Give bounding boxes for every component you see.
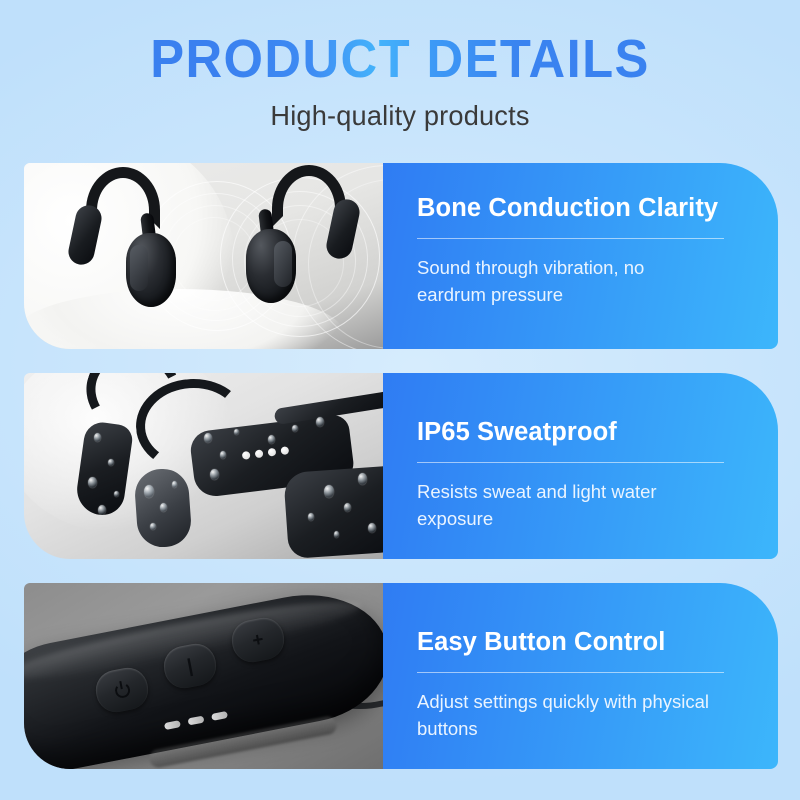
divider	[417, 672, 724, 673]
volume-up-label: +	[251, 630, 266, 651]
water-droplet	[210, 469, 219, 480]
feature-description: Resists sweat and light water exposure	[417, 479, 717, 533]
feature-heading: IP65 Sweatproof	[417, 417, 744, 448]
water-droplet	[344, 503, 351, 512]
feature-card: Bone Conduction Clarity Sound through vi…	[24, 163, 778, 349]
water-droplet	[114, 491, 119, 497]
water-droplet	[334, 531, 339, 538]
earhook-speaker-pod	[126, 233, 176, 307]
water-droplet	[234, 429, 239, 435]
water-droplet	[324, 485, 334, 498]
water-droplet	[94, 433, 101, 442]
product-image-bone-conduction	[24, 163, 383, 349]
water-droplet	[150, 523, 156, 530]
water-droplet	[220, 451, 226, 459]
water-droplet	[204, 433, 212, 443]
water-droplet	[368, 523, 376, 533]
water-droplet	[144, 485, 154, 498]
divider	[417, 238, 724, 239]
feature-description: Adjust settings quickly with physical bu…	[417, 689, 717, 743]
water-droplet	[88, 477, 97, 488]
product-image-button-control: | +	[24, 583, 383, 769]
water-droplet	[172, 481, 177, 488]
page-title: PRODUCT DETAILS	[24, 32, 776, 86]
led-dot	[242, 451, 251, 460]
feature-text-panel: Bone Conduction Clarity Sound through vi…	[383, 163, 778, 349]
pod-face	[130, 245, 148, 291]
led-dot	[255, 449, 264, 458]
product-image-sweatproof	[24, 373, 383, 559]
water-droplet	[160, 503, 167, 512]
feature-card: IP65 Sweatproof Resists sweat and light …	[24, 373, 778, 559]
led-dot	[267, 448, 276, 457]
water-droplet	[308, 513, 314, 521]
pod-face	[274, 241, 292, 287]
feature-description: Sound through vibration, no eardrum pres…	[417, 255, 717, 309]
earhook-speaker-pod	[246, 229, 296, 303]
water-droplet	[268, 435, 275, 444]
water-droplet	[108, 459, 114, 466]
water-droplet	[316, 417, 324, 427]
feature-card-list: Bone Conduction Clarity Sound through vi…	[24, 163, 778, 793]
page-subtitle: High-quality products	[12, 100, 788, 132]
page-header: PRODUCT DETAILS High-quality products	[0, 0, 800, 132]
product-details-page: PRODUCT DETAILS High-quality products	[0, 0, 800, 800]
headphone-band	[283, 465, 383, 559]
feature-heading: Bone Conduction Clarity	[417, 193, 744, 224]
volume-down-label: |	[186, 656, 195, 676]
divider	[417, 462, 724, 463]
feature-text-panel: IP65 Sweatproof Resists sweat and light …	[383, 373, 778, 559]
water-droplet	[292, 425, 298, 432]
power-icon	[113, 681, 131, 699]
water-droplet	[98, 505, 106, 515]
led-dot	[280, 446, 289, 455]
feature-text-panel: Easy Button Control Adjust settings quic…	[383, 583, 778, 769]
feature-card: | + Easy Button Control Adjust settings …	[24, 583, 778, 769]
feature-heading: Easy Button Control	[417, 627, 744, 658]
water-droplet	[358, 473, 367, 485]
